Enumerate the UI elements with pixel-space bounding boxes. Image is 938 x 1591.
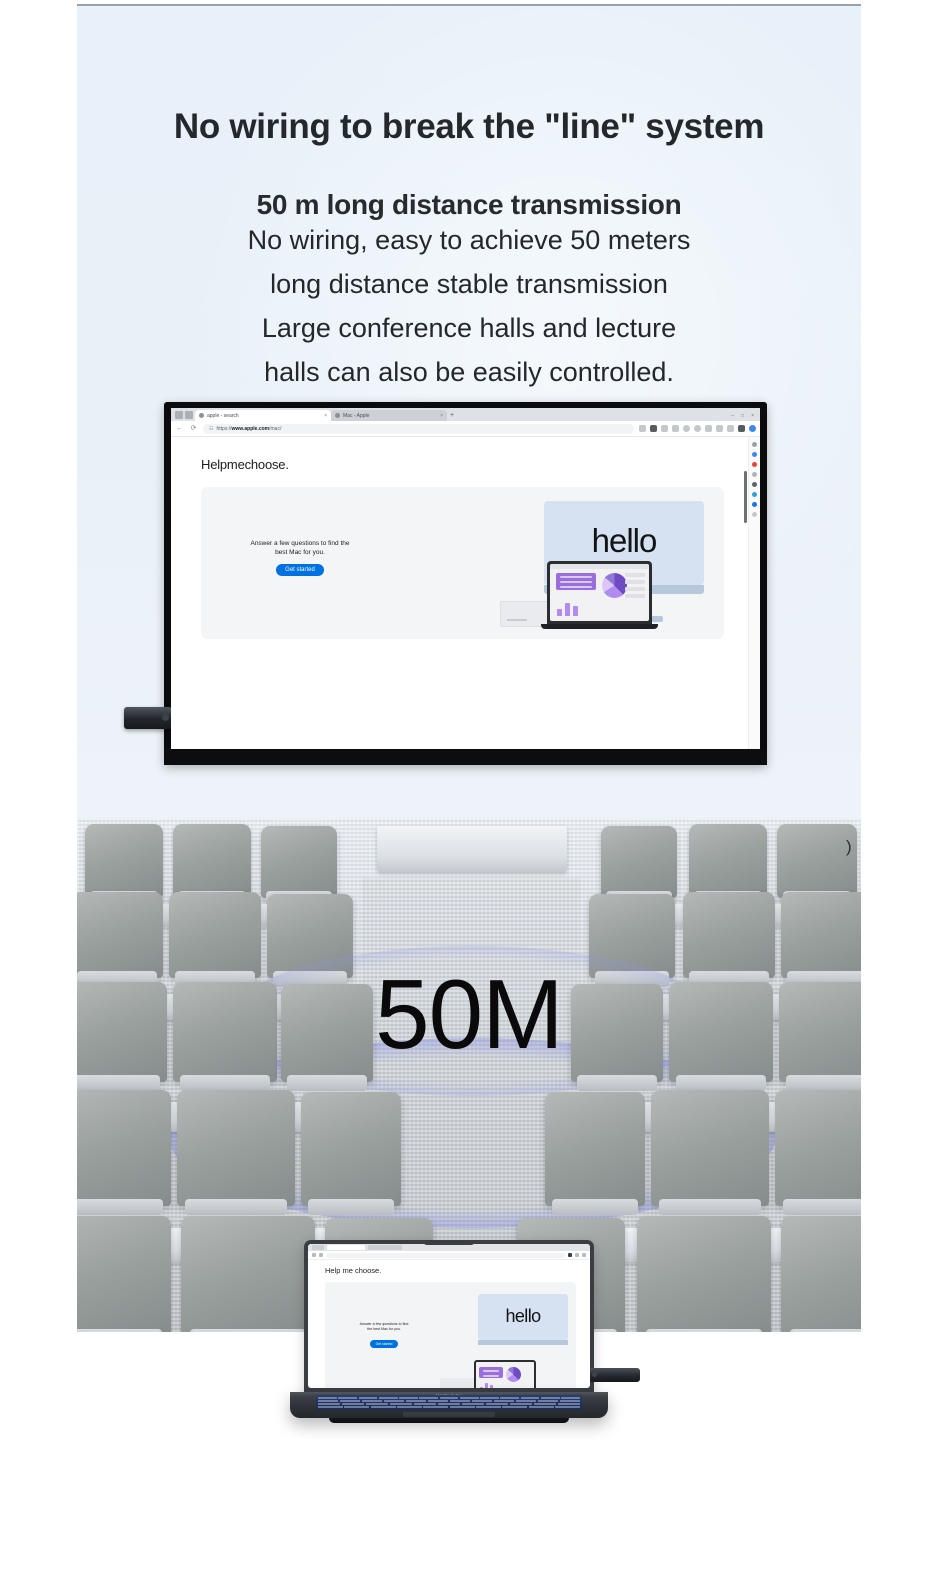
- translate-icon[interactable]: [661, 425, 668, 432]
- settings-icon[interactable]: [738, 425, 745, 432]
- browser-tab-1[interactable]: Mac - Apple ×: [331, 410, 447, 421]
- macbook-pro-mockup: Help me choose. Answer a few questions t…: [304, 1240, 594, 1423]
- card-copy-line-1: Answer a few questions to find the: [227, 539, 373, 548]
- reload-icon[interactable]: ⟳: [189, 424, 198, 433]
- laptop-macbook-lid: [474, 1360, 536, 1388]
- macbook-illustration: [547, 561, 652, 629]
- extension-icon-3[interactable]: [752, 462, 757, 467]
- seat: [689, 824, 767, 898]
- get-started-button[interactable]: Get started: [276, 564, 324, 576]
- browser-viewport: Helpmechoose. Answer a few questions to …: [171, 437, 760, 749]
- laptop-section: Help me choose. Answer a few questions t…: [0, 1332, 938, 1591]
- reload-icon[interactable]: [319, 1253, 323, 1257]
- poster-page: No wiring to break the "line" system 50 …: [0, 0, 938, 1591]
- browser-tab-bar: apple - search × Mac - Apple × + – □ ×: [171, 408, 760, 421]
- history-icon[interactable]: [694, 425, 701, 432]
- split-view-icon[interactable]: [639, 425, 646, 432]
- page-info-icon: ☷: [209, 426, 213, 432]
- seat: [601, 826, 677, 898]
- url-prefix: https://: [216, 426, 231, 432]
- monitor-bezel-bottom: [164, 749, 767, 765]
- seat: [173, 824, 251, 898]
- extension-icon-8[interactable]: [752, 512, 757, 517]
- laptop-browser-toolbar: [308, 1251, 590, 1260]
- extension-icon-1[interactable]: [752, 442, 757, 447]
- laptop-keyboard[interactable]: [316, 1395, 582, 1410]
- seat: [775, 1090, 861, 1206]
- laptop-card-copy: Answer a few questions to find the best …: [338, 1322, 430, 1350]
- slide-thumbnail: [479, 1367, 503, 1378]
- camera-notch: [423, 1240, 475, 1245]
- page-subtitle: 50 m long distance transmission: [77, 189, 861, 221]
- close-icon[interactable]: ×: [440, 413, 443, 419]
- seat: [85, 824, 163, 898]
- laptop-imac-chin: [478, 1340, 568, 1345]
- address-bar[interactable]: ☷ https:// www.apple.com /mac/: [203, 424, 634, 434]
- back-arrow-icon[interactable]: ←: [175, 424, 184, 433]
- tab-search-icon[interactable]: [185, 411, 193, 419]
- monitor-screen: apple - search × Mac - Apple × + – □ ×: [171, 408, 760, 749]
- laptop-macbook-screen: [476, 1362, 534, 1388]
- url-path: /mac/: [269, 426, 281, 432]
- bar-chart-icon: [480, 1381, 493, 1388]
- extension-icon-2[interactable]: [752, 452, 757, 457]
- seat: [77, 1216, 171, 1332]
- back-arrow-icon[interactable]: [312, 1253, 316, 1257]
- window-controls: – □ ×: [731, 413, 760, 421]
- front-desk: [377, 826, 567, 872]
- page-title: No wiring to break the "line" system: [77, 107, 861, 147]
- vertical-scrollbar[interactable]: [744, 471, 747, 523]
- description-line-4: halls can also be easily controlled.: [139, 350, 799, 394]
- extension-icon-5[interactable]: [752, 482, 757, 487]
- card-copy-line-2: best Mac for you.: [227, 548, 373, 557]
- extension-icon-4[interactable]: [752, 472, 757, 477]
- profile-avatar[interactable]: [749, 425, 756, 432]
- macbook-lid: [547, 561, 652, 624]
- laptop-browser-tab-1[interactable]: [368, 1245, 402, 1250]
- browser-app-icon: [175, 411, 183, 419]
- close-window-icon[interactable]: ×: [751, 413, 754, 419]
- collections-icon[interactable]: [727, 425, 734, 432]
- seat: [181, 1216, 315, 1332]
- seat: [651, 1090, 769, 1206]
- macbook-screen: [550, 564, 649, 621]
- tab-favicon: [199, 413, 204, 418]
- seat: [77, 1090, 171, 1206]
- laptop-trackpad[interactable]: [403, 1412, 495, 1417]
- extension-icon-7[interactable]: [752, 502, 757, 507]
- media-icon[interactable]: [716, 425, 723, 432]
- pie-chart-icon: [506, 1367, 521, 1382]
- tab-label: Mac - Apple: [343, 413, 369, 419]
- close-icon[interactable]: ×: [324, 413, 327, 419]
- extension-icon[interactable]: [568, 1253, 572, 1257]
- bar-chart-icon: [557, 598, 578, 616]
- tab-label: apple - search: [207, 413, 239, 419]
- laptop-imac-screen: hello: [478, 1294, 568, 1340]
- laptop-macbook-illustration: [474, 1360, 536, 1388]
- description-line-1: No wiring, easy to achieve 50 meters: [139, 218, 799, 262]
- seat: [301, 1092, 401, 1206]
- laptop-imac-hello-text: hello: [478, 1301, 568, 1332]
- downloads-icon[interactable]: [705, 425, 712, 432]
- minimize-icon[interactable]: –: [731, 413, 734, 419]
- macbook-base: [541, 624, 658, 629]
- laptop-copy-line-2: the best Mac for you.: [338, 1327, 430, 1332]
- card-copy: Answer a few questions to find the best …: [227, 539, 373, 576]
- inspector-panel: [625, 573, 645, 601]
- laptop-foot: [329, 1418, 569, 1423]
- toolbar-actions: [639, 425, 756, 432]
- hero-section: No wiring to break the "line" system 50 …: [77, 4, 861, 820]
- extension-icon-6[interactable]: [752, 492, 757, 497]
- maximize-icon[interactable]: □: [741, 413, 744, 419]
- browser-toolbar: ← ⟳ ☷ https:// www.apple.com /mac/: [171, 421, 760, 437]
- description-line-2: long distance stable transmission: [139, 262, 799, 306]
- laptop-mac-studio-illustration: [440, 1378, 474, 1388]
- wireless-receiver-dongle-icon: [588, 1368, 640, 1382]
- slide-thumbnail: [556, 573, 596, 590]
- shield-icon[interactable]: [683, 425, 690, 432]
- seat: [781, 1216, 861, 1332]
- laptop-lid: Help me choose. Answer a few questions t…: [304, 1240, 594, 1392]
- extension-icon[interactable]: [650, 425, 657, 432]
- edge-artifact: ): [846, 836, 854, 858]
- seat: [261, 826, 337, 898]
- laptop-browser-tab-0[interactable]: [327, 1245, 365, 1250]
- settings-icon[interactable]: [582, 1253, 586, 1257]
- laptop-page-heading: Help me choose.: [325, 1266, 381, 1275]
- extensions-rail: [748, 437, 760, 749]
- pie-chart-icon: [602, 573, 627, 598]
- description-line-3: Large conference halls and lecture: [139, 306, 799, 350]
- new-tab-button[interactable]: +: [447, 411, 457, 421]
- seat: [637, 1216, 771, 1332]
- laptop-get-started-button[interactable]: Get started: [370, 1340, 399, 1348]
- seat: [545, 1092, 645, 1206]
- page-heading: Helpmechoose.: [201, 457, 289, 472]
- distance-overlay-label: 50M: [0, 965, 938, 1063]
- tab-strip-icon[interactable]: [312, 1245, 324, 1250]
- laptop-imac-illustration: hello: [478, 1294, 568, 1345]
- help-me-choose-card: Answer a few questions to find the best …: [201, 487, 724, 639]
- bookmark-star-icon[interactable]: [575, 1253, 579, 1257]
- wireless-transmitter-dongle-icon: [124, 707, 172, 729]
- tab-favicon: [335, 413, 340, 418]
- laptop-help-me-choose-card: Answer a few questions to find the best …: [325, 1282, 576, 1388]
- seat: [777, 824, 857, 898]
- hero-description: No wiring, easy to achieve 50 meters lon…: [139, 218, 799, 394]
- laptop-browser-tab-bar: [308, 1244, 590, 1251]
- seat: [177, 1090, 295, 1206]
- laptop-body: MacBook Pro: [290, 1392, 608, 1418]
- bookmark-star-icon[interactable]: [672, 425, 679, 432]
- page-content: Helpmechoose. Answer a few questions to …: [171, 437, 748, 749]
- app-toolbar: [550, 564, 649, 569]
- monitor-mockup: apple - search × Mac - Apple × + – □ ×: [164, 402, 767, 765]
- browser-tab-0[interactable]: apple - search ×: [195, 410, 331, 421]
- url-host: www.apple.com: [232, 426, 270, 432]
- laptop-screen: Help me choose. Answer a few questions t…: [308, 1244, 590, 1388]
- laptop-address-bar[interactable]: [326, 1253, 565, 1258]
